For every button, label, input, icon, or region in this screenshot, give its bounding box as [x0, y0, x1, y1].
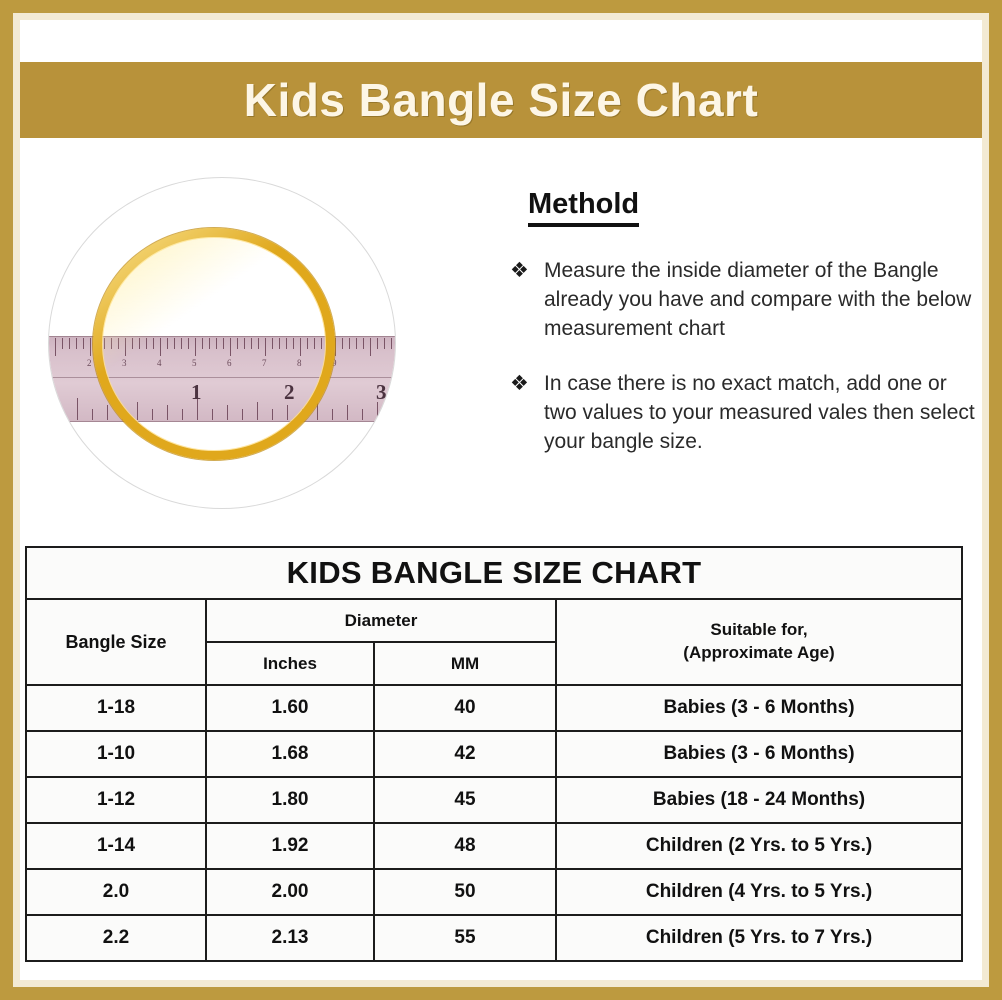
gold-bangle: [93, 228, 335, 460]
suitable-for-line-2: (Approximate Age): [683, 643, 834, 662]
cell-mm: 45: [374, 777, 556, 823]
table-title-row: KIDS BANGLE SIZE CHART: [26, 547, 962, 599]
column-header-inches: Inches: [206, 642, 374, 685]
method-section: Methold ❖ Measure the inside diameter of…: [510, 188, 980, 483]
bangle-measurement-photo: 2 3 4 5 6 7 8 9: [30, 163, 470, 523]
method-heading: Methold: [528, 188, 639, 227]
column-header-mm: MM: [374, 642, 556, 685]
cell-age: Babies (3 - 6 Months): [556, 731, 962, 777]
frame-border-top: [0, 0, 1002, 13]
diamond-bullet-icon: ❖: [510, 370, 544, 399]
cell-age: Babies (3 - 6 Months): [556, 685, 962, 731]
table-row: 2.2 2.13 55 Children (5 Yrs. to 7 Yrs.): [26, 915, 962, 961]
page-content: Kids Bangle Size Chart: [20, 13, 982, 980]
cell-age: Children (2 Yrs. to 5 Yrs.): [556, 823, 962, 869]
cell-bangle-size: 1-14: [26, 823, 206, 869]
cell-age: Children (4 Yrs. to 5 Yrs.): [556, 869, 962, 915]
table-row: 1-12 1.80 45 Babies (18 - 24 Months): [26, 777, 962, 823]
method-bullet-text: Measure the inside diameter of the Bangl…: [544, 257, 980, 344]
table-row: 2.0 2.00 50 Children (4 Yrs. to 5 Yrs.): [26, 869, 962, 915]
table-row: 1-18 1.60 40 Babies (3 - 6 Months): [26, 685, 962, 731]
table-header-row-1: Bangle Size Diameter Suitable for, (Appr…: [26, 599, 962, 642]
diamond-bullet-icon: ❖: [510, 257, 544, 286]
cell-inches: 2.00: [206, 869, 374, 915]
ruler-number-3: 3: [376, 380, 387, 405]
page-title: Kids Bangle Size Chart: [244, 77, 759, 123]
cell-inches: 2.13: [206, 915, 374, 961]
cell-mm: 50: [374, 869, 556, 915]
list-item: ❖ Measure the inside diameter of the Ban…: [510, 257, 980, 344]
column-header-bangle-size: Bangle Size: [26, 599, 206, 685]
table-title: KIDS BANGLE SIZE CHART: [26, 547, 962, 599]
method-bullet-list: ❖ Measure the inside diameter of the Ban…: [510, 257, 980, 457]
table-row: 1-14 1.92 48 Children (2 Yrs. to 5 Yrs.): [26, 823, 962, 869]
table-row: 1-10 1.68 42 Babies (3 - 6 Months): [26, 731, 962, 777]
cell-inches: 1.68: [206, 731, 374, 777]
method-bullet-text: In case there is no exact match, add one…: [544, 370, 980, 457]
cell-inches: 1.60: [206, 685, 374, 731]
cell-age: Children (5 Yrs. to 7 Yrs.): [556, 915, 962, 961]
suitable-for-line-1: Suitable for,: [710, 620, 807, 639]
cell-mm: 42: [374, 731, 556, 777]
cell-bangle-size: 1-18: [26, 685, 206, 731]
cell-bangle-size: 2.2: [26, 915, 206, 961]
cell-mm: 48: [374, 823, 556, 869]
photo-circle-mask: 2 3 4 5 6 7 8 9: [48, 177, 396, 509]
frame-border-right: [982, 0, 1002, 1000]
frame-border-bottom: [0, 980, 1002, 1000]
cell-mm: 40: [374, 685, 556, 731]
cell-inches: 1.80: [206, 777, 374, 823]
frame-border-left: [0, 0, 20, 1000]
list-item: ❖ In case there is no exact match, add o…: [510, 370, 980, 457]
column-header-diameter: Diameter: [206, 599, 556, 642]
title-banner: Kids Bangle Size Chart: [20, 62, 982, 138]
cell-bangle-size: 2.0: [26, 869, 206, 915]
cell-inches: 1.92: [206, 823, 374, 869]
column-header-suitable-for: Suitable for, (Approximate Age): [556, 599, 962, 685]
cell-bangle-size: 1-10: [26, 731, 206, 777]
cell-mm: 55: [374, 915, 556, 961]
size-chart-table: KIDS BANGLE SIZE CHART Bangle Size Diame…: [25, 546, 963, 962]
cell-bangle-size: 1-12: [26, 777, 206, 823]
cell-age: Babies (18 - 24 Months): [556, 777, 962, 823]
size-chart-page: Kids Bangle Size Chart: [0, 0, 1002, 1000]
